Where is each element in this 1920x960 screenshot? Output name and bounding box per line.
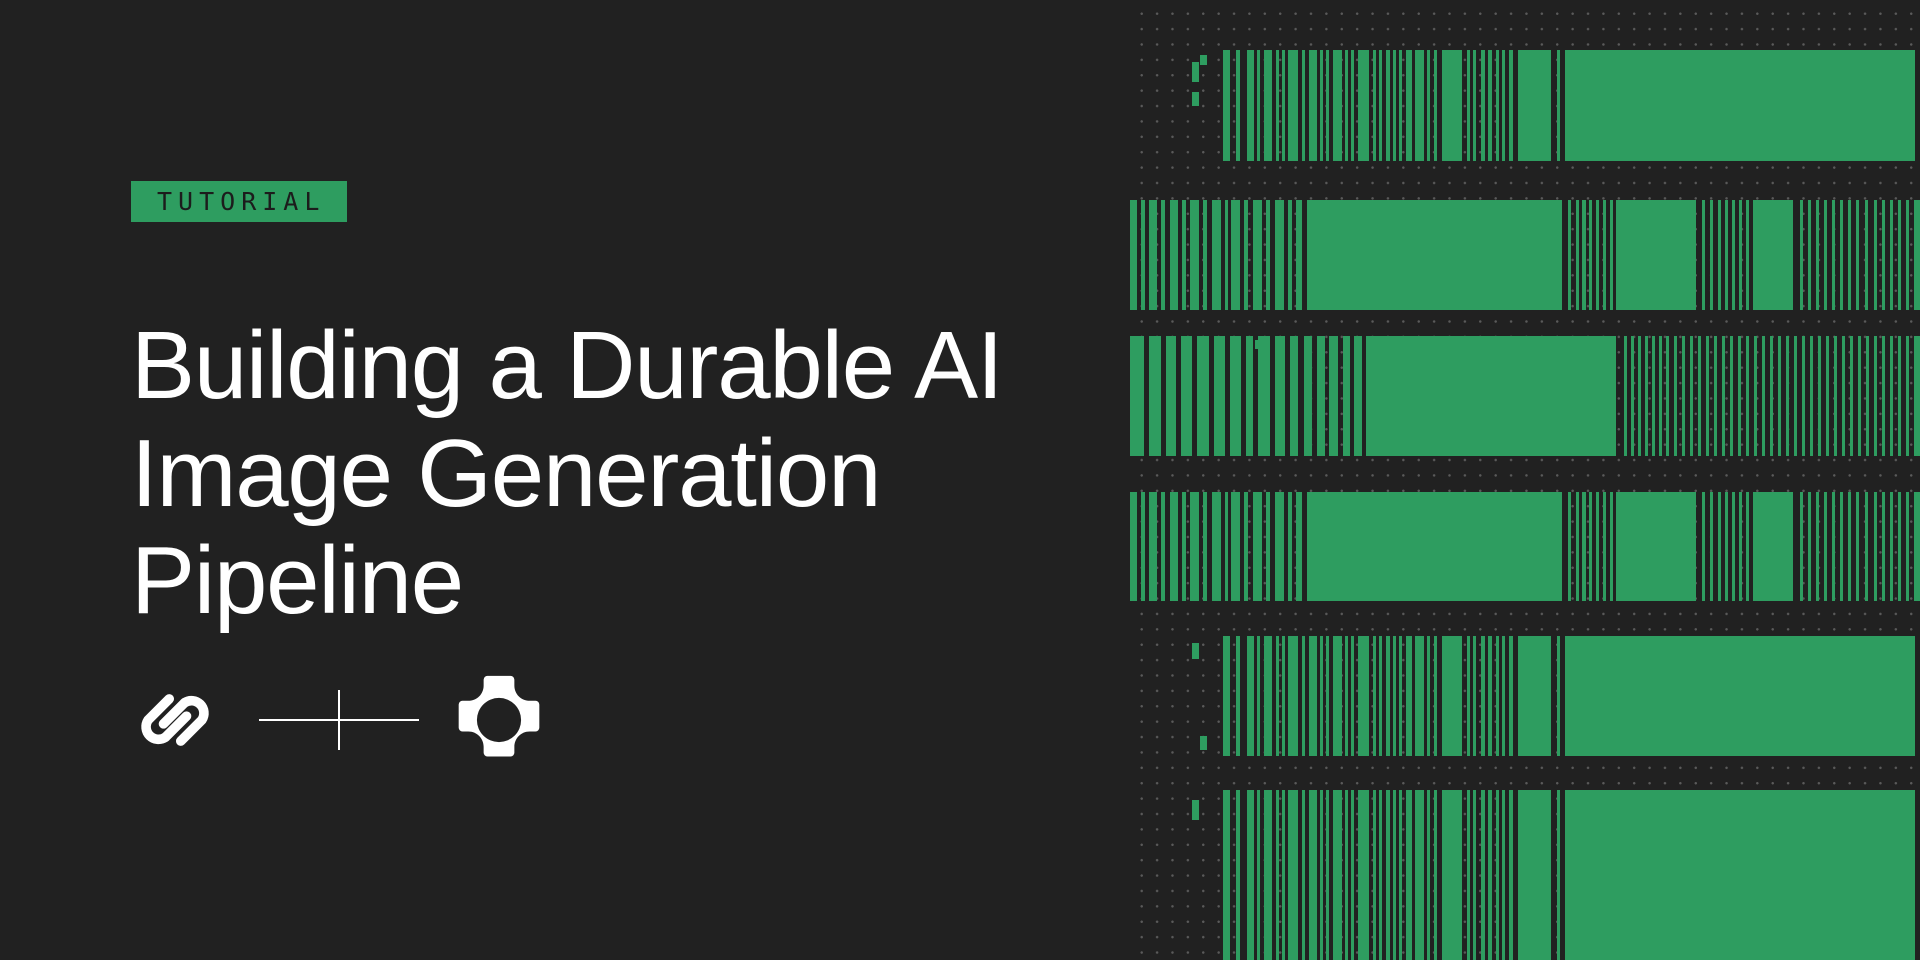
- barcode-bar: [1502, 636, 1505, 756]
- barcode-bar: [1638, 336, 1641, 456]
- barcode-bar: [1557, 790, 1560, 960]
- barcode-bar: [1596, 200, 1599, 310]
- barcode-bar: [1840, 200, 1843, 310]
- barcode-bar: [1399, 790, 1402, 960]
- barcode-bar: [1568, 492, 1571, 601]
- barcode-bar: [1442, 636, 1462, 756]
- barcode-bar: [1317, 336, 1325, 456]
- category-badge: TUTORIAL: [131, 181, 347, 222]
- barcode-bar: [1247, 636, 1254, 756]
- barcode-bar: [1130, 336, 1144, 456]
- barcode-bar: [1275, 336, 1285, 456]
- barcode-bar: [1276, 50, 1279, 161]
- barcode-bar: [1882, 200, 1885, 310]
- barcode-bar: [1898, 200, 1901, 310]
- barcode-bar: [1730, 336, 1733, 456]
- barcode-row-4: [1130, 492, 1920, 601]
- barcode-bar: [1223, 50, 1230, 161]
- barcode-bar: [1379, 790, 1382, 960]
- barcode-bar: [1282, 636, 1285, 756]
- barcode-bar: [1345, 50, 1348, 161]
- barcode-bar: [1565, 50, 1915, 161]
- barcode-bar: [1223, 636, 1230, 756]
- barcode-bar: [1890, 200, 1893, 310]
- barcode-bar: [1366, 336, 1616, 456]
- category-badge-label: TUTORIAL: [157, 189, 325, 214]
- barcode-bar: [1223, 790, 1230, 960]
- barcode-bar: [1874, 200, 1877, 310]
- barcode-bar: [1320, 790, 1323, 960]
- barcode-bar: [1898, 336, 1901, 456]
- barcode-bar: [1236, 790, 1240, 960]
- barcode-bar: [1296, 492, 1302, 601]
- barcode-bar: [1810, 336, 1813, 456]
- barcode-bar: [1914, 200, 1920, 310]
- barcode-bar: [1834, 336, 1837, 456]
- barcode-bar: [1753, 200, 1793, 310]
- barcode-bar: [1351, 50, 1354, 161]
- barcode-bar: [1856, 492, 1859, 601]
- barcode-bar: [1914, 336, 1920, 456]
- barcode-row-6: [1130, 790, 1920, 960]
- barcode-bar: [1496, 50, 1499, 161]
- barcode-bar: [1467, 636, 1470, 756]
- barcode-bar: [1890, 336, 1893, 456]
- barcode-bar: [1333, 790, 1342, 960]
- barcode-bar: [1253, 492, 1262, 601]
- barcode-bar: [1502, 790, 1505, 960]
- barcode-speck: [1192, 643, 1199, 659]
- barcode-bar: [1333, 636, 1342, 756]
- barcode-bar: [1276, 790, 1279, 960]
- barcode-bar: [1442, 50, 1462, 161]
- barcode-bar: [1247, 790, 1254, 960]
- barcode-bar: [1481, 790, 1485, 960]
- barcode-bar: [1652, 336, 1655, 456]
- barcode-bar: [1326, 50, 1329, 161]
- barcode-bar: [1850, 336, 1853, 456]
- barcode-bar: [1309, 790, 1317, 960]
- barcode-bar: [1906, 200, 1909, 310]
- barcode-bar: [1373, 790, 1376, 960]
- barcode-bar: [1351, 790, 1354, 960]
- barcode-bar: [1816, 492, 1819, 601]
- barcode-bar: [1596, 492, 1599, 601]
- barcode-bar: [1738, 336, 1741, 456]
- barcode-bar: [1320, 50, 1323, 161]
- barcode-bar: [1230, 336, 1241, 456]
- barcode-bar: [1275, 492, 1284, 601]
- barcode-bar: [1358, 636, 1369, 756]
- barcode-bar: [1225, 492, 1228, 601]
- barcode-bar: [1386, 50, 1390, 161]
- barcode-bar: [1866, 336, 1869, 456]
- barcode-bar: [1427, 50, 1430, 161]
- barcode-bar: [1568, 200, 1571, 310]
- barcode-bar: [1264, 636, 1272, 756]
- barcode-bar: [1257, 790, 1260, 960]
- barcode-bar: [1236, 50, 1240, 161]
- barcode-bar: [1818, 336, 1821, 456]
- barcode-bar: [1406, 636, 1412, 756]
- barcode-bar: [1373, 50, 1376, 161]
- barcode-bar: [1882, 492, 1885, 601]
- barcode-bar: [1557, 636, 1560, 756]
- barcode-bar: [1282, 790, 1285, 960]
- barcode-bar: [1786, 336, 1789, 456]
- barcode-bar: [1358, 50, 1369, 161]
- barcode-bar: [1603, 200, 1606, 310]
- barcode-bar: [1832, 492, 1835, 601]
- barcode-bar: [1616, 200, 1696, 310]
- barcode-bar: [1427, 636, 1430, 756]
- barcode-bar: [1754, 336, 1757, 456]
- barcode-bar: [1393, 636, 1396, 756]
- barcode-bar: [1197, 336, 1209, 456]
- barcode-bar: [1826, 336, 1829, 456]
- barcode-bar: [1488, 790, 1492, 960]
- barcode-bar: [1473, 50, 1476, 161]
- barcode-bar: [1302, 636, 1305, 756]
- barcode-bar: [1914, 492, 1920, 601]
- barcode-bar: [1203, 200, 1207, 310]
- barcode-bar: [1589, 492, 1592, 601]
- barcode-bar: [1386, 790, 1390, 960]
- barcode-bar: [1130, 492, 1137, 601]
- barcode-speck: [1192, 62, 1199, 82]
- barcode-bar: [1166, 336, 1176, 456]
- barcode-bar: [1288, 790, 1298, 960]
- barcode-bar: [1329, 336, 1338, 456]
- barcode-bar: [1610, 492, 1613, 601]
- logo-lockup: [127, 672, 547, 768]
- barcode-bar: [1702, 492, 1705, 601]
- barcode-bar: [1399, 50, 1402, 161]
- barcode-bar: [1231, 200, 1240, 310]
- barcode-bar: [1906, 336, 1909, 456]
- barcode-row-5: [1130, 636, 1920, 756]
- barcode-bar: [1624, 336, 1627, 456]
- barcode-bar: [1244, 492, 1248, 601]
- barcode-bar: [1732, 492, 1735, 601]
- barcode-bar: [1690, 336, 1693, 456]
- barcode-bar: [1808, 200, 1811, 310]
- barcode-bar: [1666, 336, 1669, 456]
- barcode-bar: [1565, 636, 1915, 756]
- barcode-bar: [1746, 492, 1749, 601]
- barcode-bar: [1282, 50, 1285, 161]
- barcode-bar: [1739, 492, 1742, 601]
- barcode-bar: [1898, 492, 1901, 601]
- barcode-bar: [1181, 336, 1192, 456]
- barcode-bar: [1702, 200, 1705, 310]
- barcode-bar: [1415, 50, 1424, 161]
- barcode-bar: [1257, 636, 1260, 756]
- barcode-bar: [1302, 790, 1305, 960]
- barcode-bar: [1746, 336, 1749, 456]
- barcode-bar: [1565, 790, 1915, 960]
- barcode-bar: [1794, 336, 1797, 456]
- barcode-bar: [1753, 492, 1793, 601]
- barcode-bar: [1848, 200, 1851, 310]
- barcode-bar: [1434, 50, 1437, 161]
- barcode-bar: [1351, 636, 1354, 756]
- barcode-bar: [1170, 492, 1178, 601]
- barcode-bar: [1288, 50, 1298, 161]
- barcode-bar: [1190, 200, 1199, 310]
- barcode-bar: [1170, 200, 1178, 310]
- barcode-bar: [1631, 336, 1634, 456]
- barcode-bar: [1309, 50, 1317, 161]
- barcode-speck: [1200, 55, 1207, 65]
- barcode-bar: [1415, 636, 1424, 756]
- barcode-bar: [1582, 492, 1586, 601]
- barcode-bar: [1800, 200, 1803, 310]
- barcode-bar: [1473, 636, 1476, 756]
- barcode-bar: [1333, 50, 1342, 161]
- barcode-bar: [1710, 492, 1713, 601]
- barcode-bar: [1231, 492, 1240, 601]
- barcode-bar: [1212, 200, 1221, 310]
- barcode-row-3: [1130, 336, 1920, 456]
- barcode-bar: [1149, 336, 1161, 456]
- barcode-speck: [1255, 340, 1262, 349]
- barcode-bar: [1496, 790, 1499, 960]
- barcode-bar: [1264, 790, 1272, 960]
- barcode-bar: [1488, 50, 1492, 161]
- barcode-bar: [1354, 336, 1362, 456]
- barcode-bar: [1379, 636, 1382, 756]
- barcode-bar: [1275, 200, 1284, 310]
- barcode-bar: [1858, 336, 1861, 456]
- barcode-bar: [1203, 492, 1207, 601]
- barcode-bar: [1874, 336, 1877, 456]
- barcode-bar: [1386, 636, 1390, 756]
- barcode-bar: [1710, 200, 1713, 310]
- barcode-pattern-panel: [1130, 0, 1920, 960]
- barcode-bar: [1326, 790, 1329, 960]
- barcode-bar: [1190, 492, 1199, 601]
- barcode-bar: [1682, 336, 1685, 456]
- barcode-bar: [1288, 636, 1298, 756]
- barcode-bar: [1718, 492, 1721, 601]
- barcode-bar: [1212, 492, 1221, 601]
- barcode-bar: [1345, 636, 1348, 756]
- barcode-bar: [1481, 50, 1485, 161]
- barcode-bar: [1488, 636, 1492, 756]
- barcode-bar: [1399, 636, 1402, 756]
- barcode-bar: [1732, 200, 1735, 310]
- barcode-bar: [1225, 200, 1228, 310]
- barcode-bar: [1343, 336, 1350, 456]
- barcode-bar: [1616, 492, 1696, 601]
- left-content-pane: TUTORIAL Building a Durable AI Image Gen…: [0, 0, 1130, 960]
- barcode-bar: [1610, 200, 1613, 310]
- barcode-bar: [1442, 790, 1462, 960]
- barcode-bar: [1890, 492, 1893, 601]
- barcode-bar: [1832, 200, 1835, 310]
- barcode-bar: [1674, 336, 1677, 456]
- barcode-bar: [1244, 200, 1248, 310]
- barcode-bar: [1582, 200, 1586, 310]
- barcode-bar: [1393, 790, 1396, 960]
- barcode-bar: [1725, 492, 1728, 601]
- barcode-bar: [1589, 200, 1592, 310]
- barcode-bar: [1288, 200, 1292, 310]
- barcode-bar: [1379, 50, 1382, 161]
- barcode-bar: [1257, 50, 1260, 161]
- barcode-bar: [1770, 336, 1773, 456]
- barcode-bar: [1214, 336, 1225, 456]
- barcode-bar: [1406, 790, 1412, 960]
- barcode-bar: [1307, 200, 1562, 310]
- barcode-bar: [1725, 200, 1728, 310]
- barcode-bar: [1706, 336, 1709, 456]
- barcode-bar: [1161, 492, 1165, 601]
- barcode-row-1: [1130, 50, 1920, 161]
- barcode-bar: [1816, 200, 1819, 310]
- barcode-bar: [1874, 492, 1877, 601]
- barcode-bar: [1309, 636, 1317, 756]
- barcode-bar: [1645, 336, 1648, 456]
- hero-banner: TUTORIAL Building a Durable AI Image Gen…: [0, 0, 1920, 960]
- barcode-bar: [1659, 336, 1662, 456]
- barcode-bar: [1393, 50, 1396, 161]
- barcode-speck: [1192, 92, 1199, 106]
- barcode-bar: [1557, 50, 1560, 161]
- barcode-bar: [1296, 200, 1302, 310]
- barcode-bar: [1518, 636, 1551, 756]
- barcode-bar: [1576, 200, 1579, 310]
- barcode-bar: [1358, 790, 1369, 960]
- barcode-bar: [1842, 336, 1845, 456]
- barcode-bar: [1130, 200, 1137, 310]
- barcode-bar: [1427, 790, 1430, 960]
- barcode-bar: [1434, 636, 1437, 756]
- barcode-bar: [1802, 336, 1805, 456]
- barcode-bar: [1739, 200, 1742, 310]
- barcode-bar: [1714, 336, 1717, 456]
- barcode-bar: [1345, 790, 1348, 960]
- barcode-bar: [1467, 790, 1470, 960]
- barcode-bar: [1141, 492, 1145, 601]
- barcode-bar: [1161, 200, 1165, 310]
- barcode-bar: [1302, 50, 1305, 161]
- barcode-bar: [1762, 336, 1765, 456]
- barcode-bar: [1603, 492, 1606, 601]
- barcode-bar: [1509, 790, 1513, 960]
- barcode-bar: [1800, 492, 1803, 601]
- barcode-bar: [1502, 50, 1505, 161]
- barcode-bar: [1288, 492, 1292, 601]
- barcode-bar: [1320, 636, 1323, 756]
- barcode-bar: [1141, 200, 1145, 310]
- barcode-bar: [1882, 336, 1885, 456]
- barcode-bar: [1406, 50, 1412, 161]
- barcode-bar: [1304, 336, 1312, 456]
- barcode-bar: [1247, 50, 1254, 161]
- barcode-bar: [1467, 50, 1470, 161]
- temporal-logo-icon: [127, 672, 223, 768]
- barcode-bar: [1509, 636, 1513, 756]
- page-title: Building a Durable AI Image Generation P…: [131, 312, 1071, 635]
- barcode-bar: [1865, 200, 1868, 310]
- barcode-bar: [1149, 200, 1157, 310]
- barcode-bar: [1865, 492, 1868, 601]
- fal-logo-icon: [451, 672, 547, 768]
- barcode-bar: [1481, 636, 1485, 756]
- barcode-bar: [1576, 492, 1579, 601]
- barcode-bar: [1518, 790, 1551, 960]
- barcode-bar: [1509, 50, 1513, 161]
- barcode-bar: [1434, 790, 1437, 960]
- barcode-bar: [1307, 492, 1562, 601]
- barcode-bar: [1415, 790, 1424, 960]
- barcode-bar: [1290, 336, 1298, 456]
- barcode-bar: [1840, 492, 1843, 601]
- barcode-bar: [1182, 492, 1186, 601]
- barcode-row-2: [1130, 200, 1920, 310]
- barcode-bar: [1246, 336, 1253, 456]
- barcode-bar: [1718, 200, 1721, 310]
- barcode-bar: [1276, 636, 1279, 756]
- barcode-bar: [1182, 200, 1186, 310]
- barcode-bar: [1848, 492, 1851, 601]
- barcode-speck: [1192, 800, 1199, 820]
- barcode-bar: [1824, 492, 1827, 601]
- barcode-bar: [1778, 336, 1781, 456]
- barcode-bar: [1149, 492, 1157, 601]
- barcode-bar: [1856, 200, 1859, 310]
- barcode-bar: [1518, 50, 1551, 161]
- barcode-bar: [1253, 200, 1262, 310]
- barcode-bar: [1496, 636, 1499, 756]
- barcode-bar: [1473, 790, 1476, 960]
- barcode-bar: [1236, 636, 1240, 756]
- barcode-bar: [1808, 492, 1811, 601]
- barcode-bar: [1373, 636, 1376, 756]
- barcode-bar: [1266, 200, 1270, 310]
- barcode-bar: [1906, 492, 1909, 601]
- barcode-bar: [1698, 336, 1701, 456]
- barcode-bar: [1746, 200, 1749, 310]
- barcode-bar: [1326, 636, 1329, 756]
- divider-vertical-line: [338, 690, 340, 750]
- barcode-bar: [1722, 336, 1725, 456]
- barcode-bar: [1266, 492, 1270, 601]
- barcode-bar: [1264, 50, 1272, 161]
- barcode-bar: [1258, 336, 1270, 456]
- plus-divider-icon: [259, 672, 419, 768]
- barcode-speck: [1200, 736, 1207, 750]
- barcode-bar: [1824, 200, 1827, 310]
